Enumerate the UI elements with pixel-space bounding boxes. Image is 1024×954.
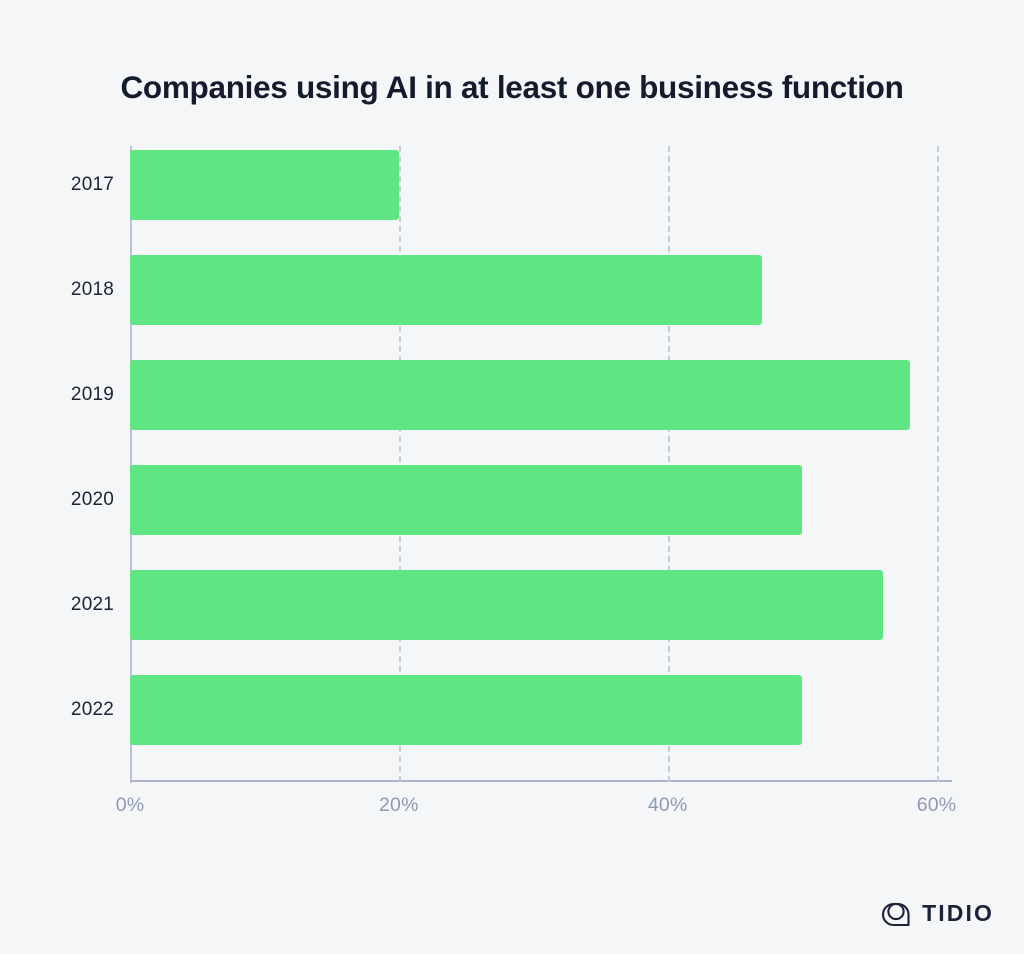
category-label-2019: 2019	[4, 384, 114, 406]
bar-2021[interactable]	[130, 570, 883, 640]
category-label-2020: 2020	[4, 489, 114, 511]
bar-2018[interactable]	[130, 255, 762, 325]
plot-area	[130, 146, 950, 782]
xtick-label-40: 40%	[608, 794, 728, 817]
category-label-2022: 2022	[4, 699, 114, 721]
category-label-2021: 2021	[4, 594, 114, 616]
bar-2017[interactable]	[130, 150, 399, 220]
chart-title: Companies using AI in at least one busin…	[0, 69, 1024, 106]
bar-2019[interactable]	[130, 360, 910, 430]
tidio-speech-bubble-icon	[879, 896, 913, 930]
bar-2022[interactable]	[130, 675, 802, 745]
bar-row	[130, 570, 950, 640]
xtick-label-60: 60%	[877, 794, 997, 817]
bar-row	[130, 150, 950, 220]
value-axis-labels: 0% 20% 40% 60%	[0, 794, 1024, 828]
xtick-label-20: 20%	[339, 794, 459, 817]
bar-2020[interactable]	[130, 465, 802, 535]
bar-row	[130, 255, 950, 325]
category-axis-labels: 2017 2018 2019 2020 2021 2022	[0, 146, 114, 782]
tidio-logo: TIDIO	[879, 896, 994, 930]
category-label-2017: 2017	[4, 174, 114, 196]
category-label-2018: 2018	[4, 279, 114, 301]
bar-row	[130, 675, 950, 745]
xtick-label-0: 0%	[70, 794, 190, 817]
tidio-wordmark: TIDIO	[922, 902, 994, 925]
chart-card: Companies using AI in at least one busin…	[0, 0, 1024, 954]
bar-row	[130, 360, 950, 430]
bar-row	[130, 465, 950, 535]
